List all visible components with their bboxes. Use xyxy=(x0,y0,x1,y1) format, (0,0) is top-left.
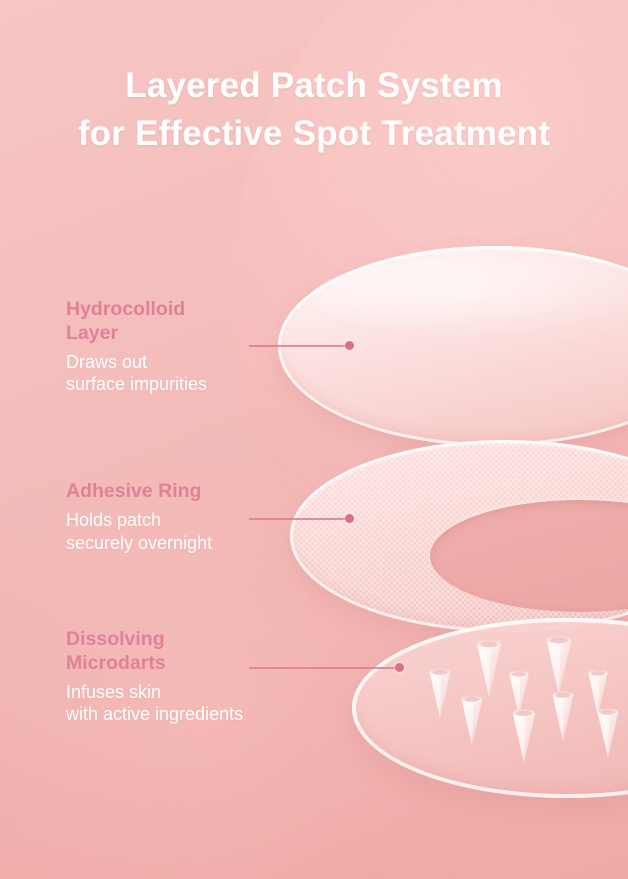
leader-line-adhesive-ring xyxy=(249,514,355,524)
callout-description: Holds patch securely overnight xyxy=(66,509,212,555)
leader-endpoint-dot xyxy=(395,663,404,672)
callout-adhesive-ring: Adhesive Ring Holds patch securely overn… xyxy=(66,480,212,555)
leader-endpoint-dot xyxy=(345,514,354,523)
leader-rule xyxy=(249,667,396,669)
leader-rule xyxy=(249,518,346,520)
patch-layer-diagram xyxy=(0,0,628,879)
callout-microdarts: Dissolving Microdarts Infuses skin with … xyxy=(66,628,243,726)
leader-line-microdarts xyxy=(249,663,405,673)
callout-title: Adhesive Ring xyxy=(66,480,212,504)
callout-description: Draws out surface impurities xyxy=(66,351,207,397)
leader-line-hydrocolloid xyxy=(249,341,355,351)
leader-rule xyxy=(249,345,346,347)
leader-endpoint-dot xyxy=(345,341,354,350)
callout-description: Infuses skin with active ingredients xyxy=(66,681,243,727)
callout-hydrocolloid: Hydrocolloid Layer Draws out surface imp… xyxy=(66,298,207,396)
callout-title: Dissolving Microdarts xyxy=(66,628,243,676)
product-infographic-poster: Layered Patch System for Effective Spot … xyxy=(0,0,628,879)
callout-title: Hydrocolloid Layer xyxy=(66,298,207,346)
